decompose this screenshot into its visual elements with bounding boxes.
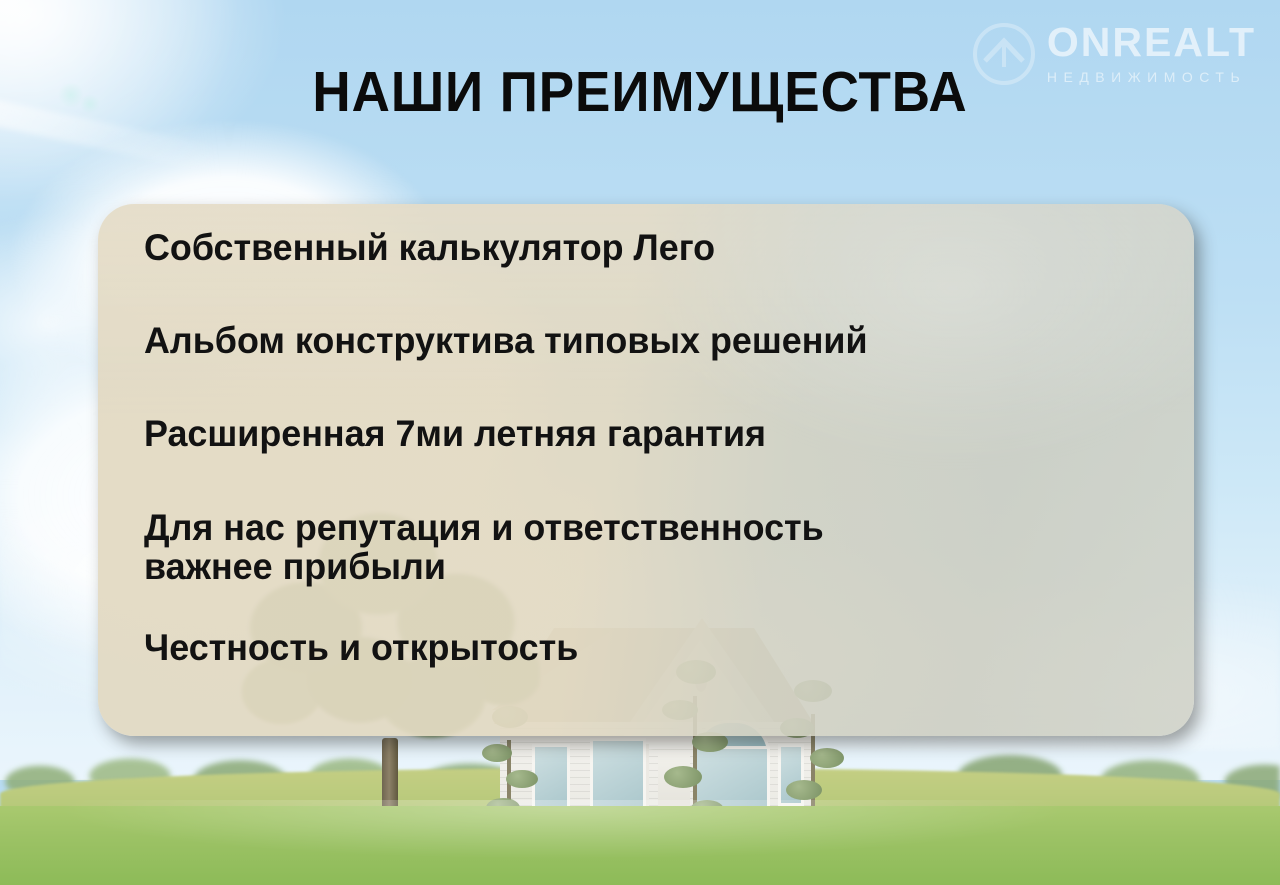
benefits-card: Собственный калькулятор Лего Альбом конс… <box>98 204 1194 736</box>
list-item: Собственный калькулятор Лего <box>144 228 1135 267</box>
list-item: Для нас репутация и ответственность важн… <box>144 508 1135 586</box>
poster-canvas: ONREALT НЕДВИЖИМОСТЬ НАШИ ПРЕИМУЩЕСТВА С… <box>0 0 1280 885</box>
page-title: НАШИ ПРЕИМУЩЕСТВА <box>45 64 1235 121</box>
list-item: Альбом конструктива типовых решений <box>144 321 1135 360</box>
list-item: Расширенная 7ми летняя гарантия <box>144 414 1135 453</box>
list-item: Честность и открытость <box>144 628 1135 667</box>
meadow-highlight <box>0 800 1280 885</box>
benefits-list: Собственный калькулятор Лего Альбом конс… <box>144 228 1166 667</box>
